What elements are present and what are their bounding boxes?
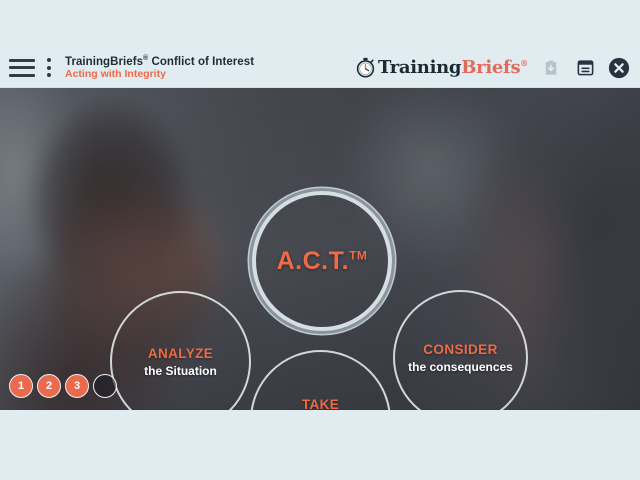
- more-vertical-icon[interactable]: [44, 58, 54, 77]
- course-title-brand: TrainingBriefs: [65, 56, 143, 68]
- slide-stage: A.C.T.TM ANALYZE the Situation TAKE the …: [0, 88, 640, 410]
- header-titles: TrainingBriefs® Conflict of Interest Act…: [65, 54, 254, 81]
- slide-viewer: TrainingBriefs® Conflict of Interest Act…: [0, 0, 640, 480]
- circle-act-label: A.C.T.: [277, 247, 349, 275]
- download-icon[interactable]: [540, 57, 562, 79]
- circle-analyze-subtext: the Situation: [144, 364, 217, 378]
- pagination-dot-1[interactable]: 1: [9, 374, 33, 398]
- close-icon[interactable]: [608, 57, 630, 79]
- circle-analyze-headline: ANALYZE: [148, 346, 213, 361]
- course-title: TrainingBriefs® Conflict of Interest: [65, 55, 254, 68]
- brand-part-briefs: Briefs: [461, 57, 520, 78]
- kebab-dot: [47, 58, 51, 62]
- notes-icon[interactable]: [574, 57, 596, 79]
- brand-part-training: Training: [378, 57, 461, 78]
- circle-act-headline: A.C.T.TM: [277, 247, 368, 276]
- hamburger-bar: [9, 66, 35, 69]
- stopwatch-icon: [355, 57, 376, 78]
- brand-wordmark: TrainingBriefs®: [378, 57, 528, 78]
- pagination: 123: [9, 374, 117, 398]
- hamburger-icon[interactable]: [9, 59, 35, 77]
- pagination-dot-3[interactable]: 3: [65, 374, 89, 398]
- course-subtitle: Acting with Integrity: [65, 69, 254, 80]
- trainingbriefs-logo: TrainingBriefs®: [355, 57, 528, 78]
- notes-glyph: [576, 58, 595, 77]
- kebab-dot: [47, 66, 51, 70]
- brand-registered-mark: ®: [520, 58, 528, 68]
- download-glyph: [542, 59, 560, 77]
- header-right-group: TrainingBriefs®: [355, 57, 640, 79]
- pagination-dot-2[interactable]: 2: [37, 374, 61, 398]
- circle-take-headline: TAKE: [302, 397, 339, 410]
- circle-consider-headline: CONSIDER: [423, 342, 497, 357]
- close-glyph: [608, 57, 630, 79]
- hamburger-bar: [9, 59, 35, 62]
- app-header: TrainingBriefs® Conflict of Interest Act…: [0, 48, 640, 88]
- circle-act: A.C.T.TM: [252, 191, 392, 331]
- course-title-rest: Conflict of Interest: [148, 56, 254, 68]
- hamburger-bar: [9, 74, 35, 77]
- circle-consider-subtext: the consequences: [408, 360, 513, 374]
- pagination-dot-4[interactable]: [93, 374, 117, 398]
- trademark-mark: TM: [349, 248, 367, 262]
- header-left-group: TrainingBriefs® Conflict of Interest Act…: [0, 54, 254, 81]
- kebab-dot: [47, 73, 51, 77]
